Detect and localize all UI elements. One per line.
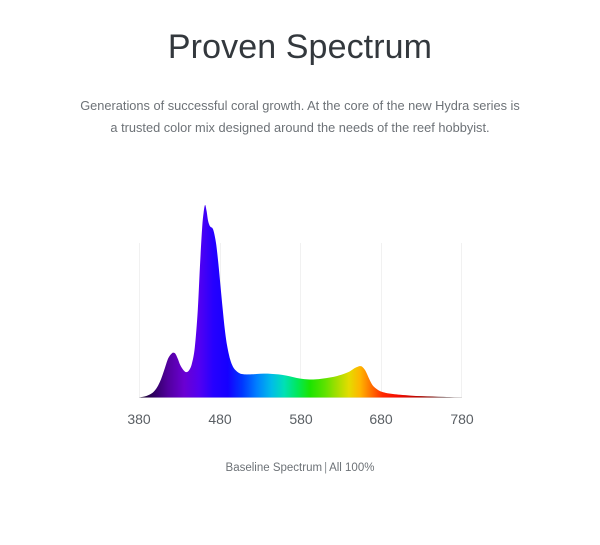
- spectrum-chart: 380 480 580 680 780 Baseline Spectrum|Al…: [0, 0, 600, 545]
- caption-level: All 100%: [329, 462, 374, 474]
- x-tick-780: 780: [432, 409, 492, 429]
- caption-name: Baseline Spectrum: [226, 462, 323, 474]
- spectrum-page: Proven Spectrum Generations of successfu…: [0, 0, 600, 545]
- x-axis-tick-labels: 380 480 580 680 780: [0, 409, 600, 429]
- x-tick-480: 480: [190, 409, 250, 429]
- x-tick-380: 380: [109, 409, 169, 429]
- caption-separator: |: [322, 460, 329, 476]
- chart-caption: Baseline Spectrum|All 100%: [0, 460, 600, 476]
- x-tick-580: 580: [271, 409, 331, 429]
- x-tick-680: 680: [351, 409, 411, 429]
